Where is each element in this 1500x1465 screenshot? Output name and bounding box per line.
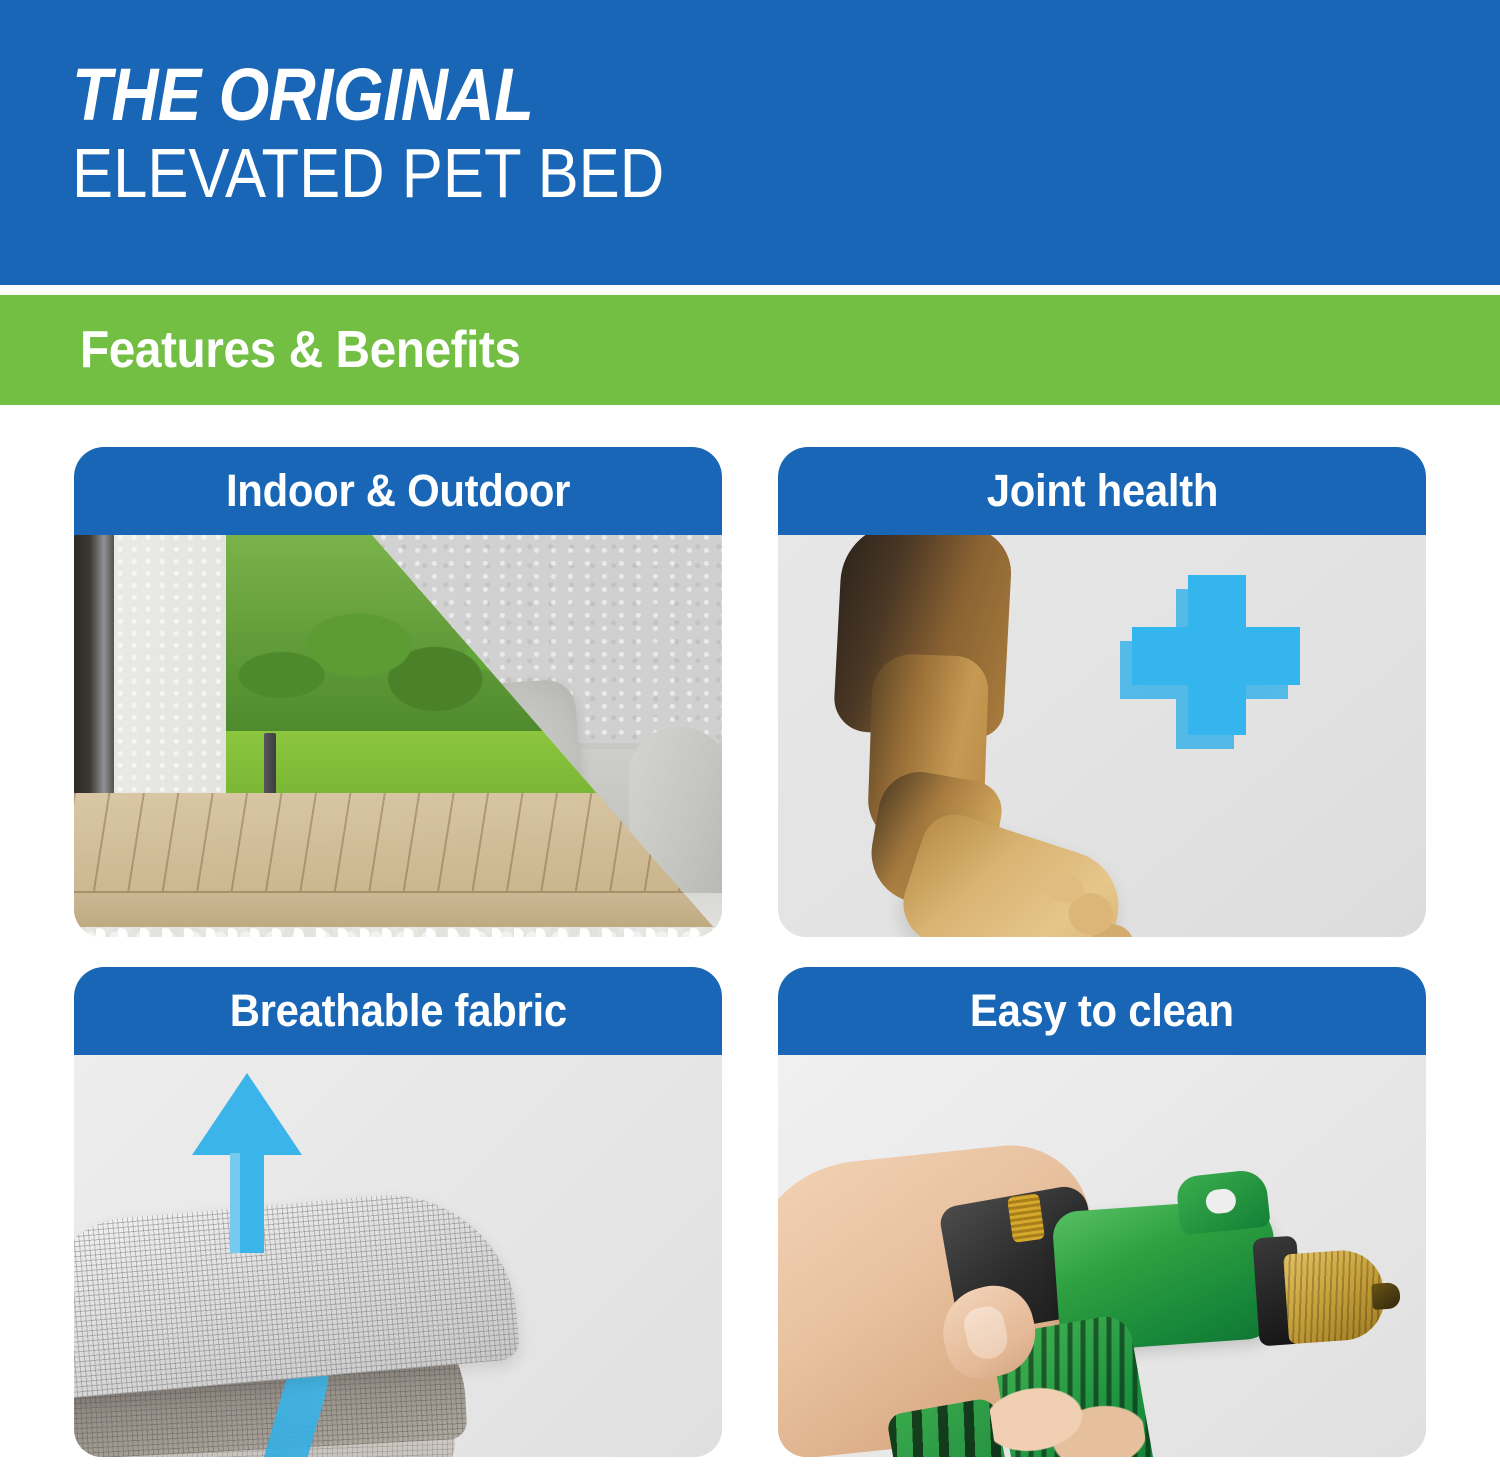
feature-card-breathable-fabric: Breathable fabric [74,967,722,1457]
mesh-fabric-image [74,1055,722,1457]
gravel-border [74,927,722,937]
section-banner-features-benefits: Features & Benefits [0,295,1500,405]
card-image-easy-to-clean [778,1055,1426,1457]
deck-edge-beam [74,891,722,931]
arrow-head [192,1073,302,1155]
hero-banner: THE ORIGINAL ELEVATED PET BED [0,0,1500,285]
card-title: Joint health [986,465,1217,517]
arrow-highlight [230,1153,240,1253]
cross-horizontal-bar [1132,627,1300,685]
card-image-joint-health [778,535,1426,937]
nozzle-hanging-hook [1175,1168,1271,1235]
hero-title-emphasis: THE ORIGINAL [72,60,1329,130]
glass-door [74,535,114,815]
section-title: Features & Benefits [80,320,521,380]
card-header-breathable-fabric: Breathable fabric [74,967,722,1055]
feature-card-easy-to-clean: Easy to clean [778,967,1426,1457]
feature-card-indoor-outdoor: Indoor & Outdoor [74,447,722,937]
card-image-breathable-fabric [74,1055,722,1457]
card-header-easy-to-clean: Easy to clean [778,967,1426,1055]
medical-cross-top-layer [1132,575,1300,735]
hose-nozzle-image [778,1055,1426,1457]
up-arrow-airflow-icon [192,1073,302,1253]
card-title: Breathable fabric [229,985,566,1037]
dog-paw-image [778,535,1426,937]
card-header-indoor-outdoor: Indoor & Outdoor [74,447,722,535]
card-image-indoor-outdoor [74,535,722,937]
hero-title-main: ELEVATED PET BED [72,138,1329,208]
feature-card-joint-health: Joint health [778,447,1426,937]
garden-light-bollard [264,733,276,795]
brass-adjust-knob [1007,1193,1045,1243]
card-title: Easy to clean [970,985,1234,1037]
nozzle-outlet [1371,1282,1401,1310]
feature-card-grid: Indoor & Outdoor [74,447,1426,1457]
medical-cross-icon [1110,575,1310,765]
card-header-joint-health: Joint health [778,447,1426,535]
split-scene-image [74,535,722,937]
card-title: Indoor & Outdoor [226,465,570,517]
